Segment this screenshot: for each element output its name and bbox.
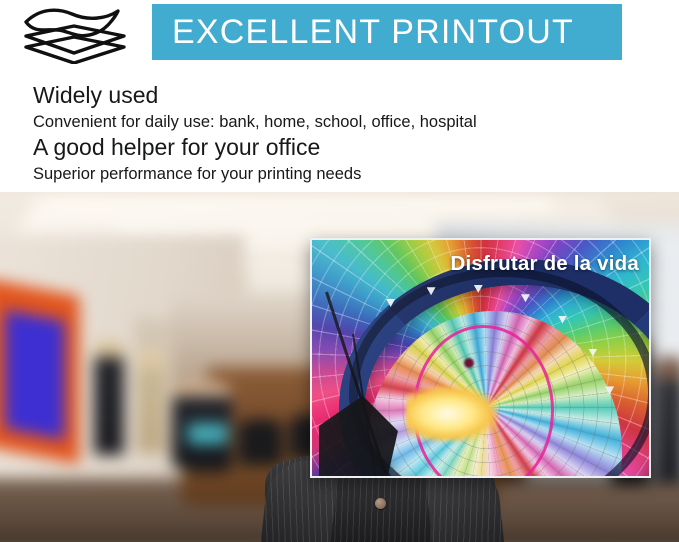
feature-2-heading: A good helper for your office [33,132,361,162]
feature-block-2: A good helper for your office Superior p… [33,132,361,185]
poster-caption: Disfrutar de la vida [450,252,639,276]
feature-1-heading: Widely used [33,80,477,110]
feature-2-subtext: Superior performance for your printing n… [33,163,361,185]
suit-button [375,498,386,509]
paper-stack-icon [14,6,136,64]
page-root: EXCELLENT PRINTOUT Widely used Convenien… [0,0,679,542]
banner-title: EXCELLENT PRINTOUT [152,13,574,52]
promo-header: EXCELLENT PRINTOUT Widely used Convenien… [0,0,679,192]
banner-excellent-printout: EXCELLENT PRINTOUT [152,4,622,60]
printed-poster: Disfrutar de la vida [310,238,651,478]
feature-1-subtext: Convenient for daily use: bank, home, sc… [33,111,477,133]
office-scene-photo: Disfrutar de la vida [0,192,679,542]
feature-block-1: Widely used Convenient for daily use: ba… [33,80,477,133]
